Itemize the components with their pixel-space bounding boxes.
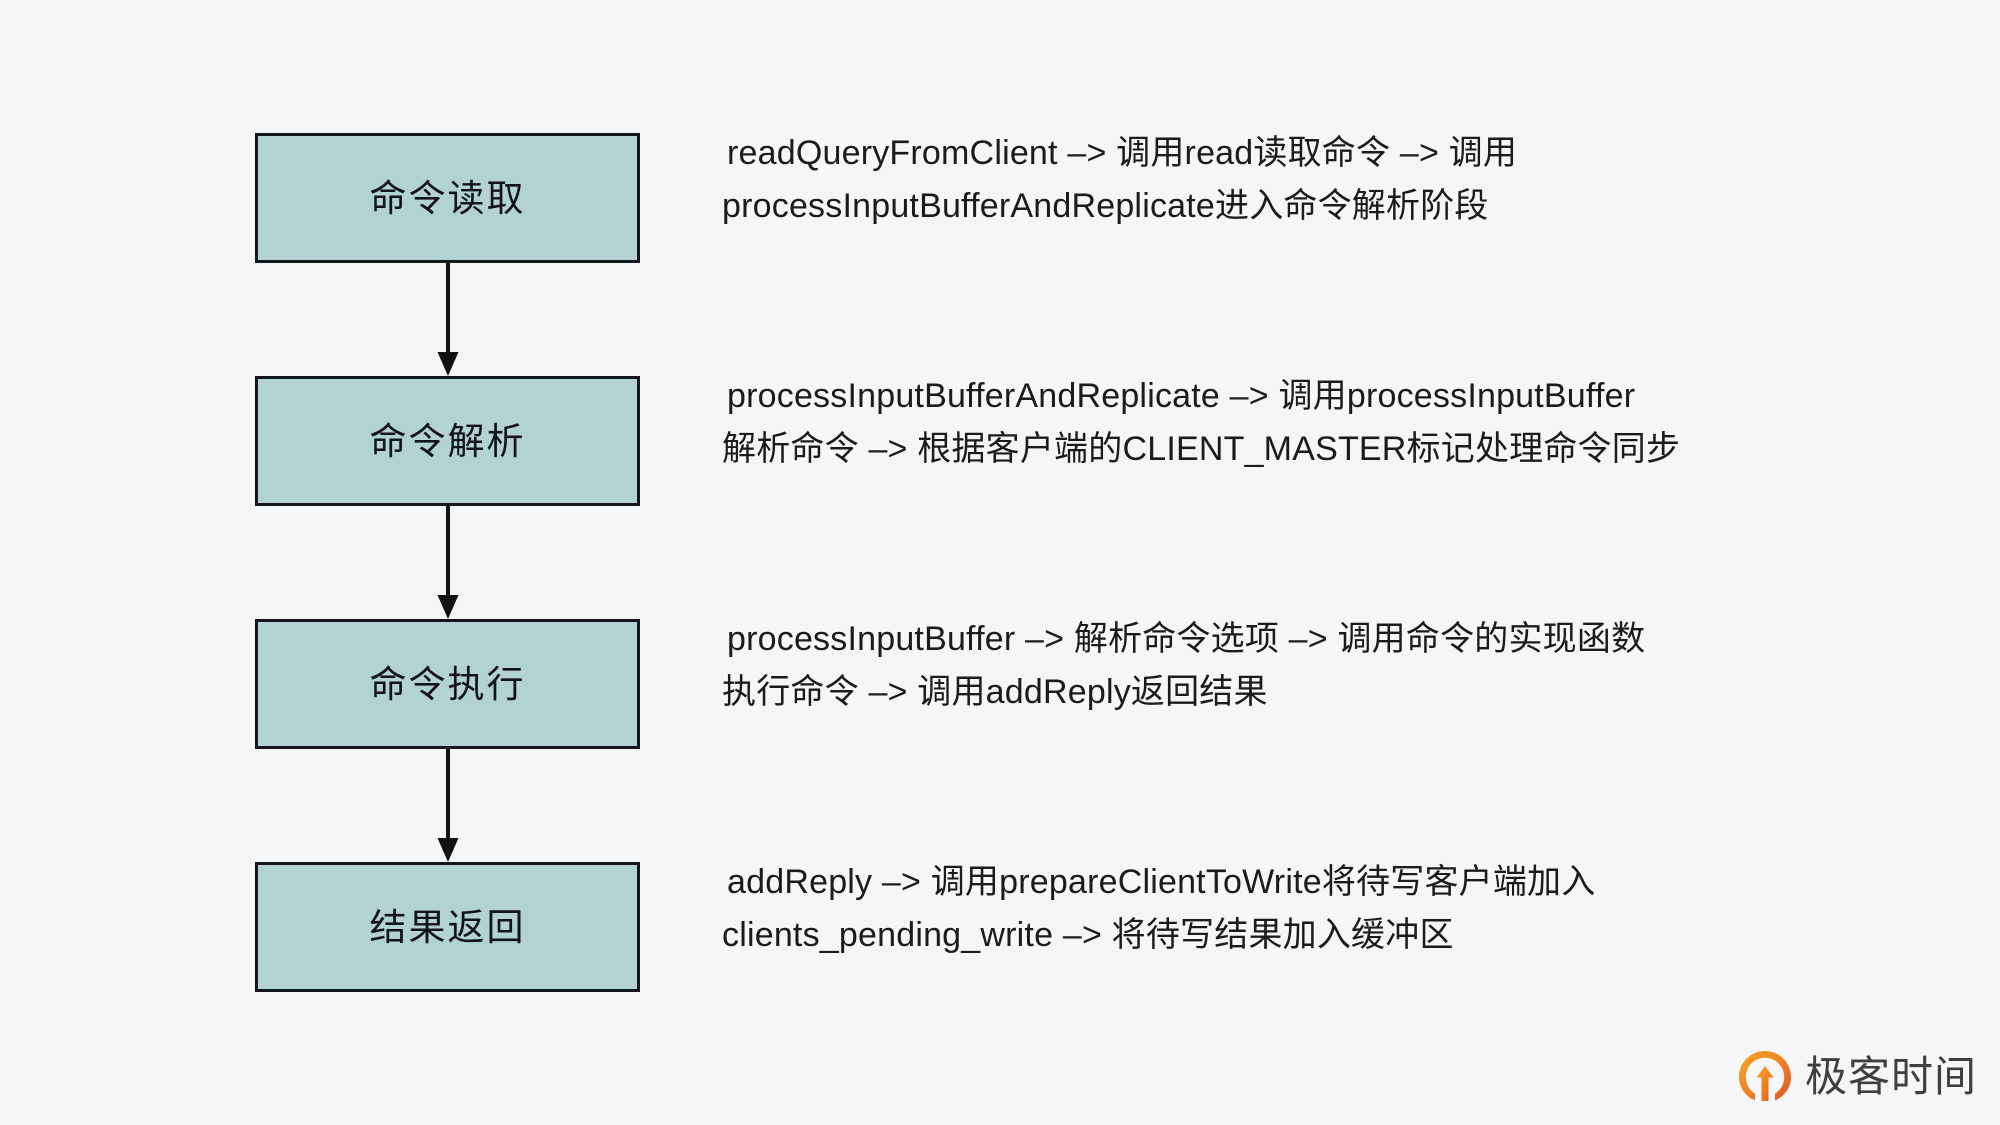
watermark: 极客时间 bbox=[1737, 1046, 1983, 1108]
down-arrow-icon bbox=[436, 263, 460, 376]
description-line: addReply –> 调用prepareClientToWrite将待写客户端… bbox=[722, 856, 1782, 909]
stage-label: 结果返回 bbox=[370, 909, 526, 946]
flow-step-row: 结果返回 addReply –> 调用prepareClientToWrite将… bbox=[0, 862, 2000, 992]
connector-arrow-1 bbox=[436, 263, 460, 376]
stage-box-command-execute: 命令执行 bbox=[255, 619, 640, 749]
flow-step-row: 命令读取 readQueryFromClient –> 调用read读取命令 –… bbox=[0, 133, 2000, 263]
description-line: 解析命令 –> 根据客户端的CLIENT_MASTER标记处理命令同步 bbox=[722, 423, 1782, 476]
stage-description-command-execute: processInputBuffer –> 解析命令选项 –> 调用命令的实现函… bbox=[722, 613, 1782, 719]
down-arrow-icon bbox=[436, 749, 460, 862]
geektime-logo-icon bbox=[1737, 1049, 1793, 1105]
stage-box-result-return: 结果返回 bbox=[255, 862, 640, 992]
stage-box-command-parse: 命令解析 bbox=[255, 376, 640, 506]
stage-label: 命令解析 bbox=[370, 423, 526, 460]
flow-step-row: 命令解析 processInputBufferAndReplicate –> 调… bbox=[0, 376, 2000, 506]
description-line: readQueryFromClient –> 调用read读取命令 –> 调用 bbox=[722, 127, 1782, 180]
stage-description-result-return: addReply –> 调用prepareClientToWrite将待写客户端… bbox=[722, 856, 1782, 962]
stage-description-command-read: readQueryFromClient –> 调用read读取命令 –> 调用 … bbox=[722, 127, 1782, 233]
watermark-text: 极客时间 bbox=[1805, 1056, 1977, 1098]
stage-box-command-read: 命令读取 bbox=[255, 133, 640, 263]
flow-step-row: 命令执行 processInputBuffer –> 解析命令选项 –> 调用命… bbox=[0, 619, 2000, 749]
stage-description-command-parse: processInputBufferAndReplicate –> 调用proc… bbox=[722, 370, 1782, 476]
description-line: processInputBuffer –> 解析命令选项 –> 调用命令的实现函… bbox=[722, 613, 1782, 666]
flowchart-diagram: 命令读取 readQueryFromClient –> 调用read读取命令 –… bbox=[0, 0, 2000, 1125]
description-line: processInputBufferAndReplicate进入命令解析阶段 bbox=[722, 180, 1782, 233]
stage-label: 命令执行 bbox=[370, 666, 526, 703]
stage-label: 命令读取 bbox=[370, 180, 526, 217]
connector-arrow-2 bbox=[436, 506, 460, 619]
connector-arrow-3 bbox=[436, 749, 460, 862]
down-arrow-icon bbox=[436, 506, 460, 619]
description-line: 执行命令 –> 调用addReply返回结果 bbox=[722, 666, 1782, 719]
description-line: processInputBufferAndReplicate –> 调用proc… bbox=[722, 370, 1782, 423]
description-line: clients_pending_write –> 将待写结果加入缓冲区 bbox=[722, 909, 1782, 962]
